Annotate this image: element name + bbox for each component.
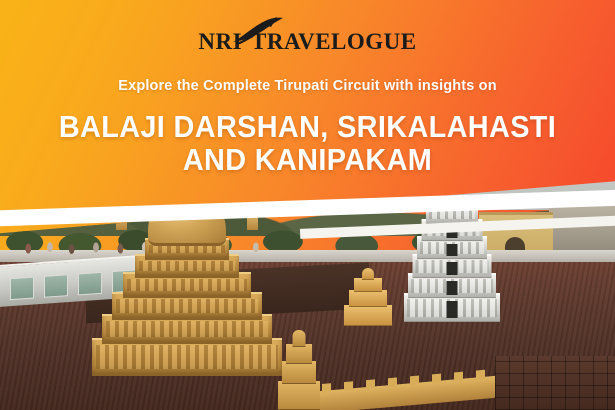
title-line-1: BALAJI DARSHAN, SRIKALAHASTI bbox=[59, 109, 556, 144]
shrine-tier bbox=[282, 361, 316, 384]
golden-vimana bbox=[344, 270, 392, 326]
site-logo[interactable]: NRI TRAVELOGUE bbox=[0, 30, 615, 60]
gopuram-window bbox=[447, 301, 458, 318]
shrine-tier bbox=[286, 344, 312, 364]
shrine-tier bbox=[278, 381, 320, 410]
logo-primary-text: NRI bbox=[198, 30, 242, 53]
white-stone-gopuram bbox=[404, 194, 500, 322]
vimana-finial bbox=[362, 268, 374, 280]
logo-secondary-text: TRAVELOGUE bbox=[251, 30, 417, 53]
title-line-2: AND KANIPAKAM bbox=[22, 143, 594, 176]
hall-window bbox=[44, 274, 68, 298]
shrine-finial bbox=[293, 330, 306, 347]
page-title: BALAJI DARSHAN, SRIKALAHASTI AND KANIPAK… bbox=[22, 110, 594, 177]
hall-window bbox=[10, 277, 34, 301]
vimana-tier bbox=[354, 278, 382, 292]
vimana-tier bbox=[344, 305, 392, 326]
gopuram-window bbox=[447, 244, 458, 256]
subheadline: Explore the Complete Tirupati Circuit wi… bbox=[0, 78, 615, 94]
kalasha-finial bbox=[183, 178, 192, 200]
gopuram-window bbox=[447, 262, 458, 275]
grid-roof bbox=[495, 356, 615, 410]
vimana-tier bbox=[349, 290, 387, 307]
promo-banner: NRI TRAVELOGUE Explore the Complete Tiru… bbox=[0, 0, 615, 410]
temple-photo bbox=[0, 150, 615, 410]
gopuram-window bbox=[447, 281, 458, 295]
golden-shrine bbox=[278, 324, 320, 410]
